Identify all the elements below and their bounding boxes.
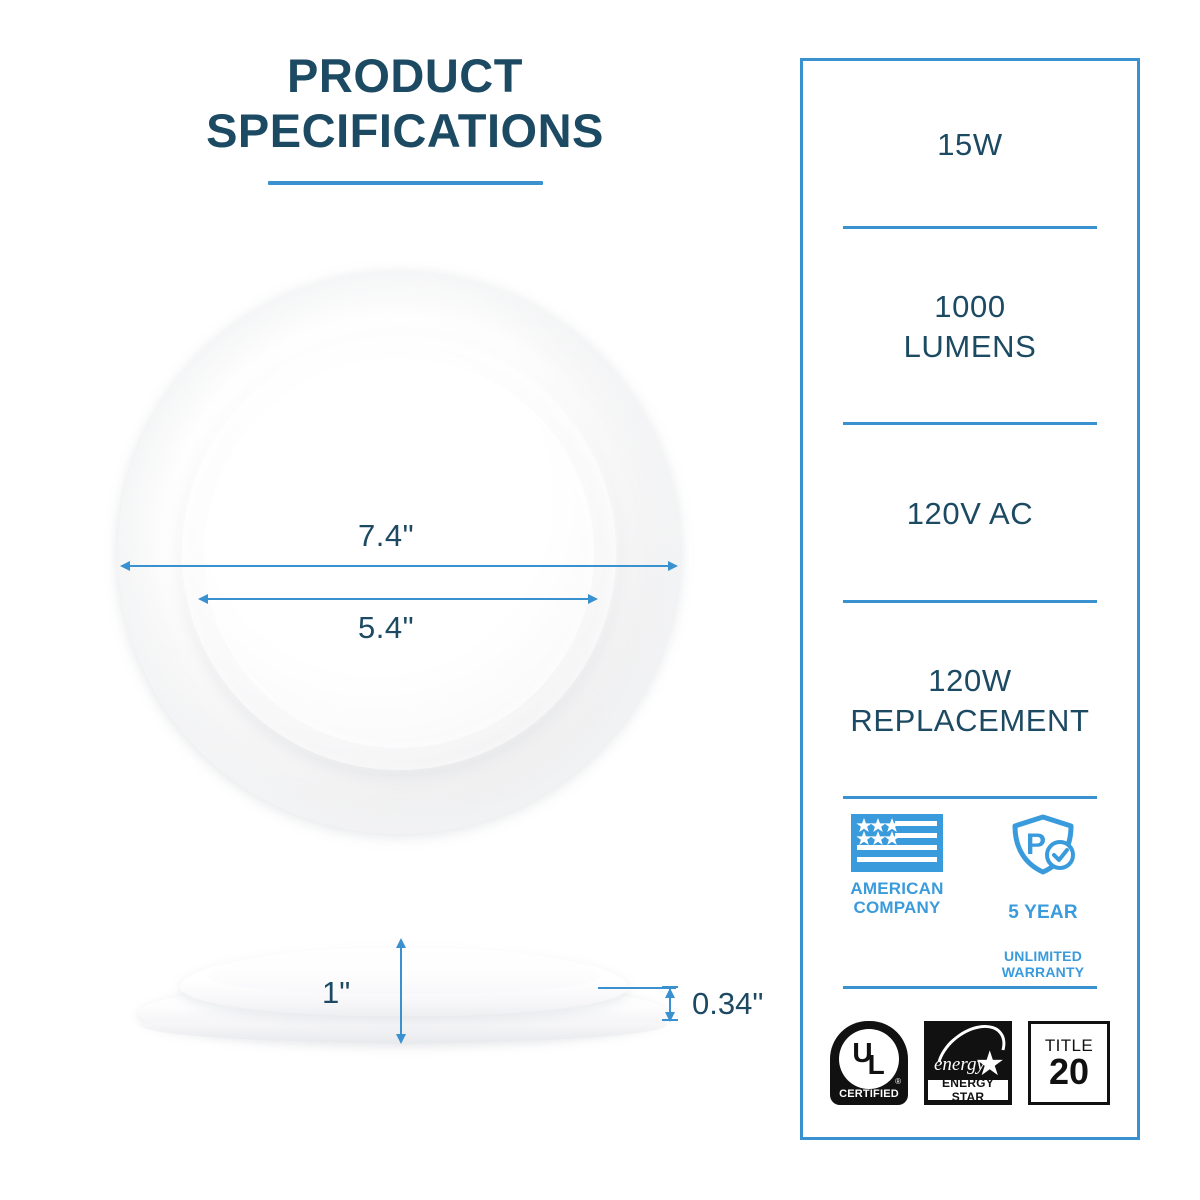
spec-value-voltage: 120V AC (907, 494, 1034, 534)
certification-logo-group: UL ® CERTIFIED energy ★ ENERGY STAR TITL… (803, 1021, 1137, 1105)
ul-certified-logo: UL ® CERTIFIED (830, 1021, 908, 1105)
registered-trademark-icon: ® (895, 1077, 901, 1086)
side-dome-top-highlight (208, 948, 600, 994)
arrow-head-down (396, 1034, 406, 1044)
spec-row-wattage: 15W (803, 61, 1137, 229)
badge-caption-american-company: AMERICAN COMPANY (841, 879, 953, 917)
spec-row-badges: AMERICAN COMPANY P 5 YEAR UNLIMITED WARR… (803, 799, 1137, 989)
arrow-head-right (668, 561, 678, 571)
badge-group: AMERICAN COMPANY P 5 YEAR UNLIMITED WARR… (803, 808, 1137, 981)
title-block: PRODUCT SPECIFICATIONS (60, 48, 750, 185)
spec-row-certifications: UL ® CERTIFIED energy ★ ENERGY STAR TITL… (803, 989, 1137, 1137)
shield-check-icon: P (1005, 814, 1081, 876)
energy-star-logo: energy ★ ENERGY STAR (924, 1021, 1012, 1105)
arrow-head-left (120, 561, 130, 571)
dimension-label-total-height: 1" (322, 975, 350, 1011)
dimension-label-outer-diameter: 7.4" (358, 518, 414, 554)
ul-letter-l: L (868, 1049, 885, 1081)
spec-value-replacement: 120W REPLACEMENT (850, 661, 1089, 740)
arrow-head-up (396, 938, 406, 948)
dimension-line (208, 598, 588, 600)
arrow-head-up (665, 988, 675, 998)
spec-row-replacement: 120W REPLACEMENT (803, 603, 1137, 799)
spec-row-lumens: 1000 LUMENS (803, 229, 1137, 425)
badge-american-company: AMERICAN COMPANY (841, 814, 953, 917)
us-flag-icon (851, 814, 943, 872)
svg-text:P: P (1026, 828, 1046, 861)
spec-value-lumens: 1000 LUMENS (904, 287, 1037, 366)
badge-caption-warranty-secondary: UNLIMITED WARRANTY (987, 949, 1099, 980)
arrow-head-right (588, 594, 598, 604)
warranty-years: 5 YEAR (987, 902, 1099, 923)
ul-mark: UL (839, 1029, 899, 1089)
dimension-label-trim-depth: 0.34" (692, 986, 763, 1022)
title-20-number: 20 (1049, 1054, 1089, 1090)
page-title: PRODUCT SPECIFICATIONS (60, 48, 750, 159)
energy-star-caption: ENERGY STAR (928, 1080, 1008, 1100)
spec-row-voltage: 120V AC (803, 425, 1137, 603)
title-underline-rule (268, 181, 543, 185)
dimension-line (130, 565, 668, 567)
dimension-line-total-height (400, 944, 402, 1039)
ul-caption: CERTIFIED (830, 1088, 908, 1100)
spec-value-wattage: 15W (937, 125, 1003, 165)
badge-warranty: P 5 YEAR UNLIMITED WARRANTY (987, 814, 1099, 981)
product-side-view-image (138, 948, 668, 1048)
badge-caption-warranty-primary: 5 YEAR (987, 883, 1099, 942)
title-20-logo: TITLE 20 (1028, 1021, 1110, 1105)
specifications-panel: 15W 1000 LUMENS 120V AC 120W REPLACEMENT (800, 58, 1140, 1140)
arrow-head-down (665, 1012, 675, 1022)
arrow-head-left (198, 594, 208, 604)
dimension-label-inner-diameter: 5.4" (358, 610, 414, 646)
